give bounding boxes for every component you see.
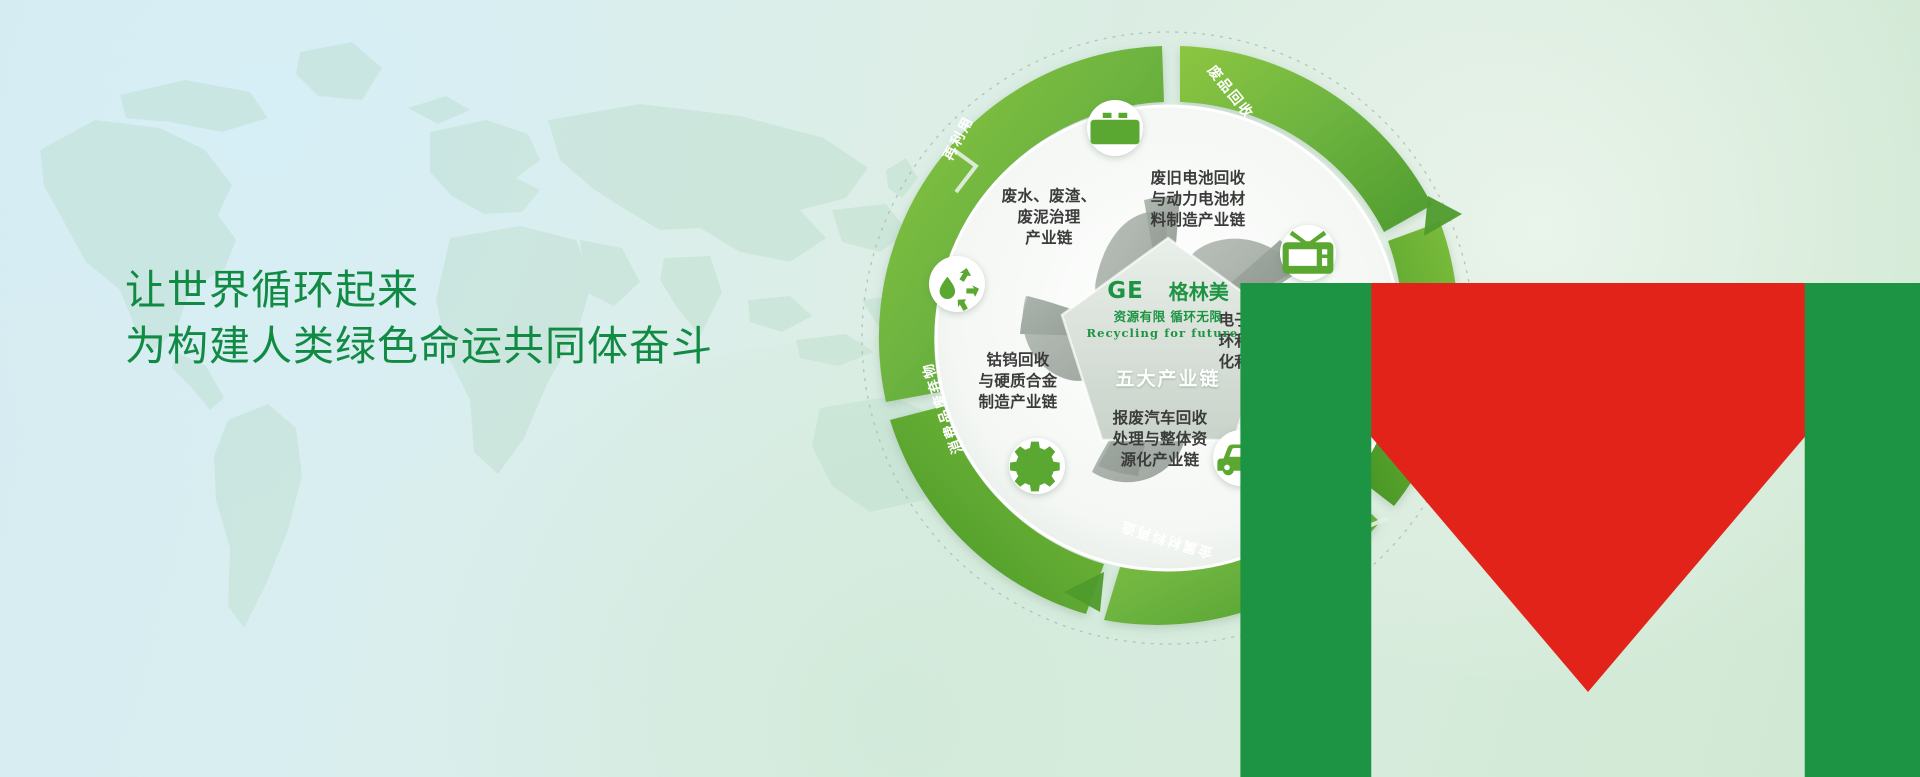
background-glow-left xyxy=(0,0,720,500)
headline-line-2: 为构建人类绿色命运共同体奋斗 xyxy=(125,318,825,374)
television-icon xyxy=(1280,225,1336,281)
battery-icon xyxy=(1087,100,1143,156)
headline-line-1: 让世界循环起来 xyxy=(125,262,825,318)
hero-headline: 让世界循环起来 为构建人类绿色命运共同体奋斗 xyxy=(125,262,825,374)
gear-icon xyxy=(1009,438,1065,494)
brand-logo: GE 格林美 资源有限 循环无限 Recycling for future ! … xyxy=(1083,280,1253,391)
five-industry-chain-diagram: 再利用 废品回收 材料制造 金属材料再造 消费品废弃物 废水、废渣、 废泥治理 … xyxy=(828,0,1708,777)
recycle-drop-icon xyxy=(929,256,985,312)
brand-name-en: GE xyxy=(1107,280,1144,303)
brand-logo-row: GE 格林美 xyxy=(1083,280,1253,303)
gem-triangle-mark xyxy=(1148,283,1165,302)
